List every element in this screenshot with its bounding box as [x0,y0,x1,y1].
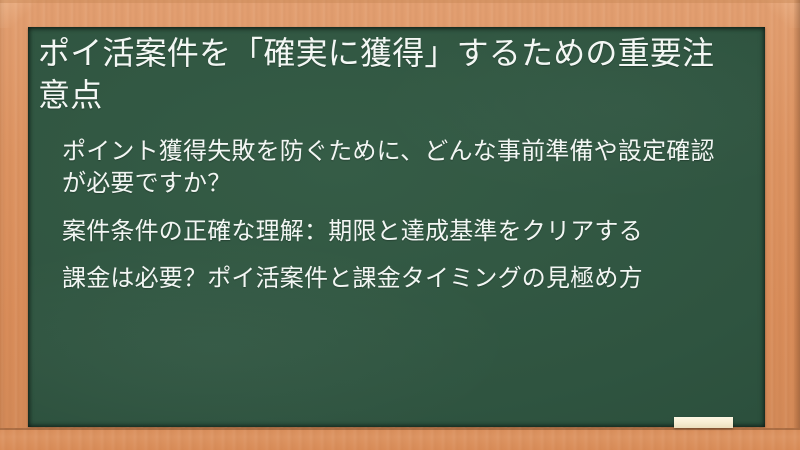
topic-list: ポイント獲得失敗を防ぐために、どんな事前準備や設定確認が必要ですか？ 案件条件の… [33,136,747,295]
slide-title: ポイ活案件を「確実に獲得」するための重要注意点 [33,33,738,116]
topic-item-1: ポイント獲得失敗を防ぐために、どんな事前準備や設定確認が必要ですか？ [62,136,737,200]
chalk-eraser [674,417,733,428]
chalkboard-content: ポイ活案件を「確実に獲得」するための重要注意点 ポイント獲得失敗を防ぐために、ど… [28,27,765,295]
frame-edge-right [794,0,800,450]
topic-item-3: 課金は必要？ポイ活案件と課金タイミングの見極め方 [62,263,737,295]
chalk-ledge [0,428,800,450]
chalkboard-surface: ポイ活案件を「確実に獲得」するための重要注意点 ポイント獲得失敗を防ぐために、ど… [28,27,765,427]
frame-edge-top [0,0,800,3]
chalk-ledge-shadow [0,428,800,430]
topic-item-2: 案件条件の正確な理解：期限と達成基準をクリアする [62,216,737,248]
frame-edge-left [0,0,4,450]
chalkboard-slide: ポイ活案件を「確実に獲得」するための重要注意点 ポイント獲得失敗を防ぐために、ど… [0,0,800,450]
